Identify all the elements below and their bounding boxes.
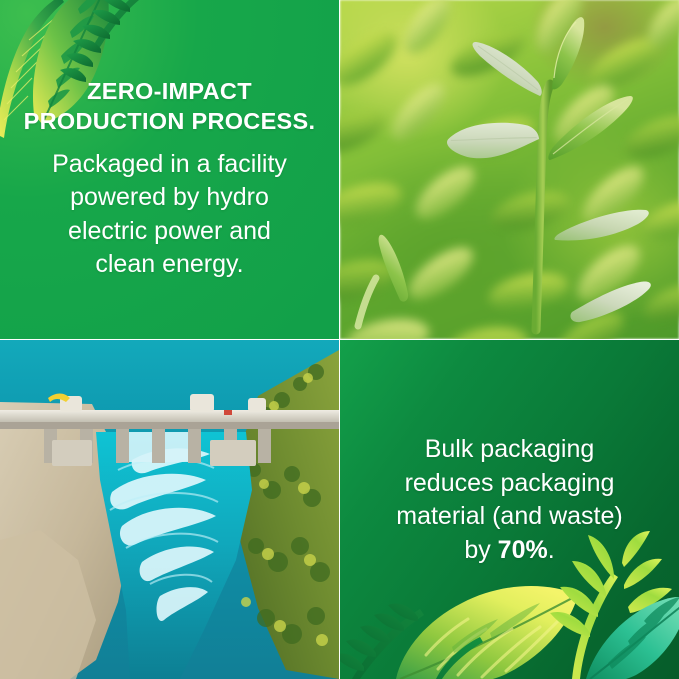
- tea-leaf-shoot-top: [552, 17, 584, 89]
- photo-hydroelectric-dam: [0, 340, 339, 679]
- headline-zero-impact: ZERO-IMPACT PRODUCTION PROCESS.: [0, 76, 339, 136]
- tea-leaf-lower-right: [554, 210, 648, 241]
- bulk-emphasis-percent: 70%: [498, 536, 548, 564]
- headline-line-1: ZERO-IMPACT: [87, 78, 252, 104]
- dam-scene: [0, 340, 339, 679]
- body-line-2: powered by hydro: [70, 183, 269, 211]
- bulk-line-3: material (and waste): [396, 502, 622, 530]
- tea-leaf-silver: [445, 111, 541, 167]
- bulk-line-2: reduces packaging: [405, 469, 615, 497]
- hydro-dam-image: [0, 340, 339, 679]
- bulk-line-1: Bulk packaging: [425, 435, 595, 463]
- tea-leaf-lower-left: [358, 235, 408, 326]
- panel-bulk-packaging: Bulk packaging reduces packaging materia…: [340, 340, 679, 679]
- tea-leaf-right: [548, 96, 632, 160]
- eco-infographic: ZERO-IMPACT PRODUCTION PROCESS. Packaged…: [0, 0, 679, 679]
- tea-plant-image: [340, 0, 679, 339]
- body-line-3: electric power and: [68, 217, 271, 245]
- teal-monstera-leaf-right: [586, 597, 679, 679]
- bulk-line-4: by: [464, 536, 497, 564]
- fern-silhouette-left: [340, 604, 424, 679]
- fern-front-bottom: [436, 637, 483, 679]
- photo-tea-plant: [340, 0, 679, 339]
- bulk-period: .: [548, 536, 555, 564]
- palm-frond-icon: [60, 0, 147, 82]
- tea-foreground-shoot: [340, 0, 679, 339]
- body-copy-bulk-packaging: Bulk packaging reduces packaging materia…: [340, 433, 679, 567]
- body-line-4: clean energy.: [95, 250, 243, 278]
- large-tropical-leaf-center: [396, 586, 578, 679]
- body-line-1: Packaged in a facility: [52, 150, 287, 178]
- tea-leaf-silver-upper: [473, 42, 542, 96]
- tea-leaf-bottom-silver: [570, 281, 650, 322]
- panel-zero-impact-production: ZERO-IMPACT PRODUCTION PROCESS. Packaged…: [0, 0, 339, 339]
- headline-line-2: PRODUCTION PROCESS.: [24, 108, 316, 134]
- body-copy-packaged-facility: Packaged in a facility powered by hydro …: [0, 148, 339, 281]
